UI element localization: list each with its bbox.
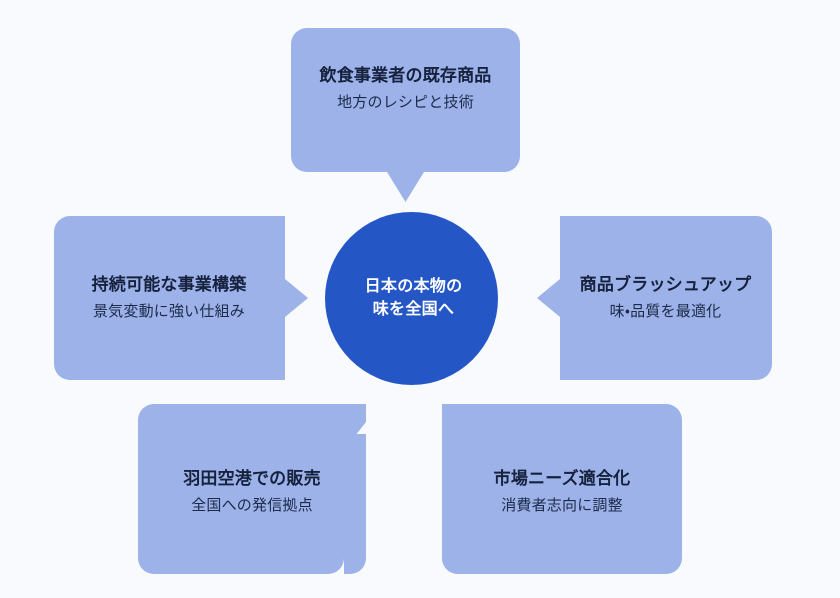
- node-bottom-right-subtitle: 消費者志向に調整: [501, 496, 623, 516]
- node-bottom-left-title: 羽田空港での販売: [183, 468, 321, 491]
- node-top-title: 飲食事業者の既存商品: [320, 65, 492, 88]
- node-bottom-left-subtitle: 全国への発信拠点: [191, 496, 313, 516]
- center-hub-line-2: 味を全国へ: [373, 299, 455, 322]
- node-bottom-right-title: 市場ニーズ適合化: [494, 468, 631, 491]
- node-bottom-left-haneda-sales[interactable]: 羽田空港での販売 全国への発信拠点: [138, 404, 366, 574]
- center-hub-line-1: 日本の本物の: [365, 276, 463, 299]
- node-left-sustainable-business[interactable]: 持続可能な事業構築 景気変動に強い仕組み: [54, 216, 308, 380]
- node-right-product-brushup[interactable]: 商品ブラッシュアップ 味・品質を最適化: [537, 216, 772, 380]
- node-right-subtitle: 味・品質を最適化: [610, 302, 722, 322]
- center-hub-labels: 日本の本物の 味を全国へ: [361, 276, 463, 321]
- node-top-subtitle: 地方のレシピと技術: [337, 93, 474, 113]
- center-hub[interactable]: 日本の本物の 味を全国へ: [325, 212, 498, 385]
- node-right-title: 商品ブラッシュアップ: [580, 274, 752, 297]
- node-left-title: 持続可能な事業構築: [92, 274, 247, 297]
- node-left-subtitle: 景気変動に強い仕組み: [93, 302, 245, 322]
- node-top-existing-products[interactable]: 飲食事業者の既存商品 地方のレシピと技術: [291, 28, 520, 202]
- value-chain-diagram: 飲食事業者の既存商品 地方のレシピと技術 持続可能な事業構築 景気変動に強い仕組…: [0, 0, 840, 598]
- node-bottom-right-market-needs[interactable]: 市場ニーズ適合化 消費者志向に調整: [442, 404, 682, 574]
